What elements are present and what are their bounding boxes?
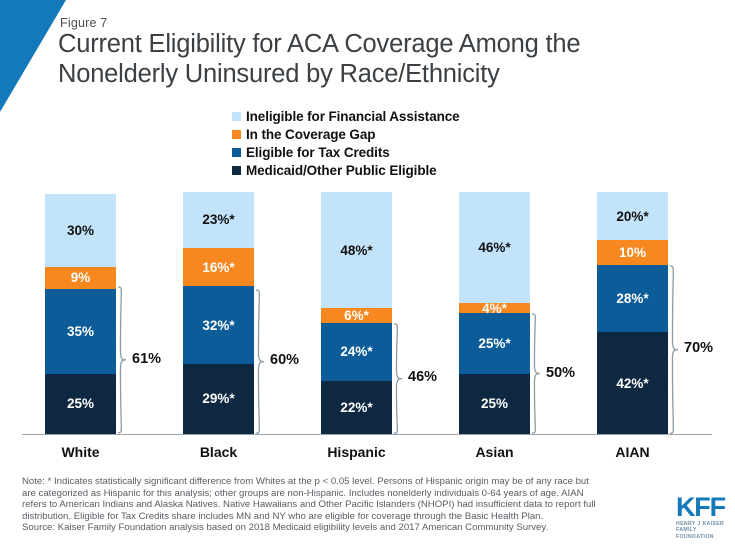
- footnote-line-4: distribution. Eligible for Tax Credits s…: [22, 511, 662, 523]
- bracket-total-label-white: 61%: [132, 351, 161, 367]
- bar-segment-value-label: 25%: [67, 396, 94, 411]
- bar-segment-aian-eligible-for-tax-credits[interactable]: 28%*: [597, 265, 668, 333]
- bar-segment-hispanic-medicaid-other-public-eligible[interactable]: 22%*: [321, 381, 392, 434]
- bar-segment-black-medicaid-other-public-eligible[interactable]: 29%*: [183, 364, 254, 434]
- bar-segment-value-label: 35%: [67, 324, 94, 339]
- bar-segment-value-label: 48%*: [340, 243, 372, 258]
- bar-segment-black-eligible-for-tax-credits[interactable]: 32%*: [183, 286, 254, 363]
- bar-segment-value-label: 20%*: [616, 209, 648, 224]
- bar-segment-value-label: 25%*: [478, 336, 510, 351]
- bar-segment-aian-in-the-coverage-gap[interactable]: 10%: [597, 240, 668, 264]
- bar-segment-aian-medicaid-other-public-eligible[interactable]: 42%*: [597, 332, 668, 434]
- bar-segment-value-label: 42%*: [616, 376, 648, 391]
- kff-logo: KFF HENRY J KAISER FAMILY FOUNDATION: [676, 494, 735, 540]
- bar-segment-hispanic-in-the-coverage-gap[interactable]: 6%*: [321, 308, 392, 323]
- footnote-line-1: Note: * Indicates statistically signific…: [22, 476, 662, 488]
- x-axis-category-label-black: Black: [163, 444, 274, 460]
- bar-segment-asian-medicaid-other-public-eligible[interactable]: 25%: [459, 374, 530, 435]
- bar-segment-value-label: 29%*: [202, 391, 234, 406]
- bar-segment-value-label: 6%*: [344, 308, 369, 323]
- bracket-asian: [531, 313, 545, 434]
- bracket-total-label-black: 60%: [270, 352, 299, 368]
- bar-segment-asian-in-the-coverage-gap[interactable]: 4%*: [459, 303, 530, 313]
- bar-segment-value-label: 28%*: [616, 291, 648, 306]
- bracket-aian: [669, 265, 683, 434]
- x-axis-category-label-asian: Asian: [439, 444, 550, 460]
- bar-segment-value-label: 32%*: [202, 318, 234, 333]
- bracket-black: [255, 289, 269, 434]
- footnote-line-5: Source: Kaiser Family Foundation analysi…: [22, 522, 662, 534]
- bar-segment-asian-eligible-for-tax-credits[interactable]: 25%*: [459, 313, 530, 374]
- bar-segment-hispanic-ineligible-for-financial-assistance[interactable]: 48%*: [321, 192, 392, 308]
- chart-plot-area: 25%35%9%30%White61%29%*32%*16%*23%*Black…: [0, 0, 735, 440]
- bar-segment-value-label: 9%: [71, 270, 91, 285]
- x-axis-category-label-white: White: [25, 444, 136, 460]
- kff-logo-mark: KFF: [676, 494, 735, 520]
- bar-segment-value-label: 22%*: [340, 400, 372, 415]
- bar-segment-aian-ineligible-for-financial-assistance[interactable]: 20%*: [597, 192, 668, 240]
- bar-segment-white-eligible-for-tax-credits[interactable]: 35%: [45, 289, 116, 374]
- bar-group-asian: 25%25%*4%*46%*: [459, 192, 530, 434]
- bar-segment-value-label: 46%*: [478, 240, 510, 255]
- bracket-white: [117, 286, 131, 434]
- bracket-total-label-asian: 50%: [546, 365, 575, 381]
- bar-group-white: 25%35%9%30%: [45, 194, 116, 434]
- bar-segment-asian-ineligible-for-financial-assistance[interactable]: 46%*: [459, 192, 530, 303]
- bar-segment-value-label: 24%*: [340, 344, 372, 359]
- kff-logo-subtitle: HENRY J KAISER FAMILY FOUNDATION: [676, 521, 735, 540]
- bracket-total-label-aian: 70%: [684, 340, 713, 356]
- x-axis-line: [22, 434, 712, 435]
- bar-segment-white-ineligible-for-financial-assistance[interactable]: 30%: [45, 194, 116, 267]
- bar-segment-white-in-the-coverage-gap[interactable]: 9%: [45, 267, 116, 289]
- bar-segment-value-label: 23%*: [202, 212, 234, 227]
- bracket-total-label-hispanic: 46%: [408, 369, 437, 385]
- bar-group-hispanic: 22%*24%*6%*48%*: [321, 192, 392, 434]
- bar-segment-value-label: 10%: [619, 245, 646, 260]
- bar-group-black: 29%*32%*16%*23%*: [183, 192, 254, 434]
- bar-segment-value-label: 30%: [67, 223, 94, 238]
- bar-segment-black-in-the-coverage-gap[interactable]: 16%*: [183, 248, 254, 287]
- bar-segment-value-label: 25%: [481, 396, 508, 411]
- bar-segment-white-medicaid-other-public-eligible[interactable]: 25%: [45, 374, 116, 435]
- bar-segment-value-label: 16%*: [202, 260, 234, 275]
- footnote-line-2: are categorized as Hispanic for this ana…: [22, 488, 662, 500]
- kff-logo-subtitle-line-2: FAMILY FOUNDATION: [676, 527, 735, 540]
- footnote-note-source: Note: * Indicates statistically signific…: [22, 476, 662, 534]
- bar-group-aian: 42%*28%*10%20%*: [597, 192, 668, 434]
- bracket-hispanic: [393, 323, 407, 434]
- bar-segment-black-ineligible-for-financial-assistance[interactable]: 23%*: [183, 192, 254, 248]
- x-axis-category-label-hispanic: Hispanic: [301, 444, 412, 460]
- x-axis-category-label-aian: AIAN: [577, 444, 688, 460]
- bar-segment-hispanic-eligible-for-tax-credits[interactable]: 24%*: [321, 323, 392, 381]
- footnote-line-3: refers to American Indians and Alaska Na…: [22, 499, 662, 511]
